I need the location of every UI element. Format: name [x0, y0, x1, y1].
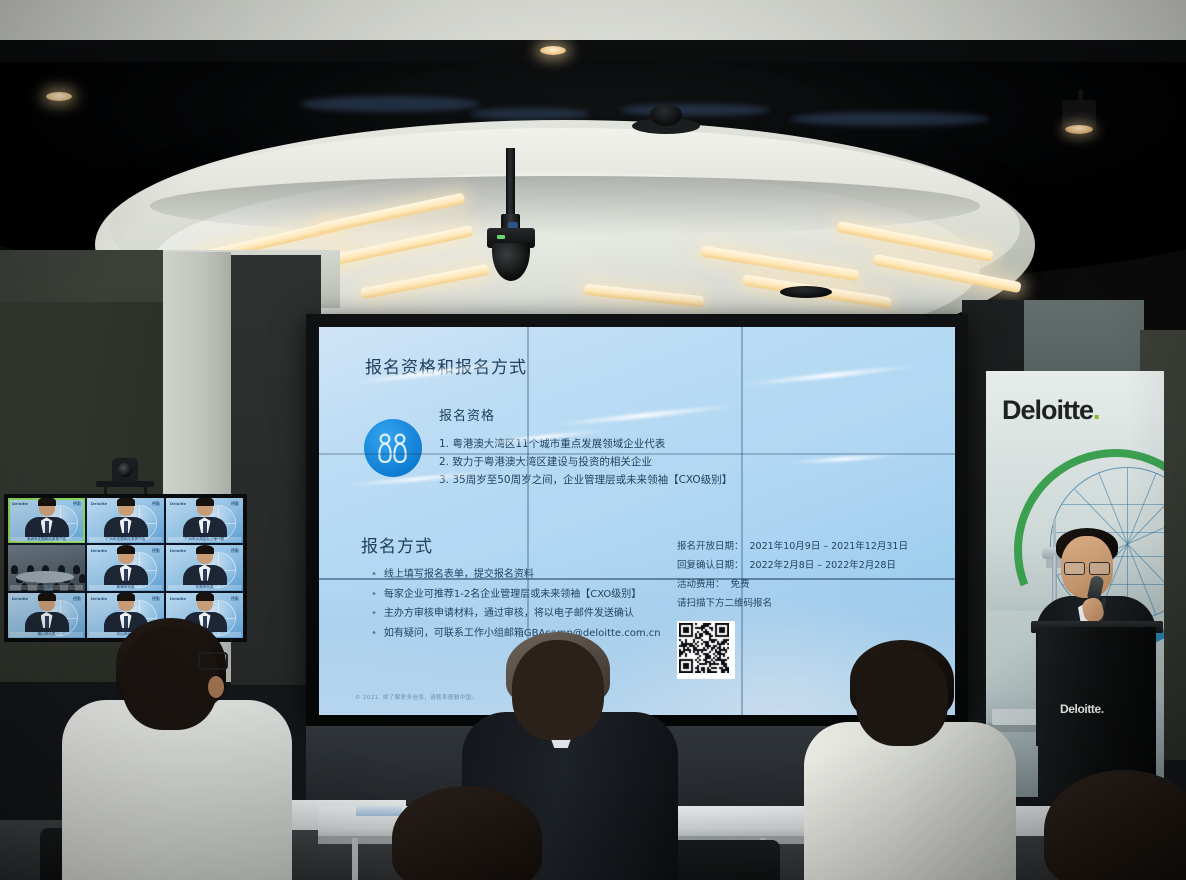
panel-seam: [319, 453, 955, 455]
info-value: 2022年2月8日 – 2022年2月28日: [750, 556, 896, 575]
participant-head: [197, 499, 213, 516]
participant-tie: [203, 521, 207, 533]
harbour-vessel: [992, 709, 1040, 725]
participant-hair: [38, 498, 56, 506]
slide-footer: © 2021. 欲了解更多信息，请联系德勤中国。: [355, 693, 477, 701]
info-label: 报名开放日期：: [677, 537, 744, 556]
participant-body: [104, 517, 148, 537]
participant-head: [197, 547, 213, 564]
ceiling-reflection: [790, 112, 990, 126]
participant-hair: [117, 545, 135, 553]
downlight-stem: [1078, 96, 1083, 108]
audience-ear: [208, 676, 224, 698]
participant-hair: [196, 545, 214, 553]
tile-deloitte-logo: Deloitte: [170, 501, 186, 506]
info-row: 报名开放日期： 2021年10月9日 – 2021年12月31日: [677, 537, 927, 556]
tile-brand-cn: 德勤: [152, 501, 160, 507]
tile-caption: 广州市大湾区办公室代表: [168, 537, 241, 542]
tile-caption: 会议现场: [10, 585, 83, 590]
participant-head: [118, 594, 134, 611]
tile-caption: 佛山市代表: [10, 632, 83, 637]
participant-figure: [183, 547, 227, 585]
video-tile[interactable]: Deloitte德勤东莞市代表: [166, 545, 243, 590]
participant-hair: [117, 593, 135, 601]
participant-tie: [124, 616, 128, 628]
deloitte-logo: Deloitte.: [1002, 395, 1100, 426]
participant-body: [104, 565, 148, 585]
info-label: 回复确认日期：: [677, 556, 744, 575]
participant-body: [183, 517, 227, 537]
how-to-register-list: •线上填写报名表单，提交报名资料 •每家企业可推荐1-2名企业管理层或未来领袖【…: [371, 565, 681, 643]
list-item: •线上填写报名表单，提交报名资料: [371, 565, 681, 585]
how-item-text: 每家企业可推荐1-2名企业管理层或未来领袖【CXO级别】: [384, 585, 641, 605]
ceiling-reflection: [300, 96, 480, 112]
podium-deloitte-logo: Deloitte.: [1060, 702, 1104, 716]
tile-deloitte-logo: Deloitte: [170, 548, 186, 553]
ceiling-reflection: [620, 104, 770, 116]
audience-head: [122, 626, 218, 730]
tile-brand-cn: 德勤: [152, 548, 160, 554]
how-item-text: 主办方审核申请材料，通过审核，将以电子邮件发送确认: [384, 604, 634, 624]
qr-caption: 请扫描下方二维码报名: [677, 594, 927, 613]
participant-head: [118, 547, 134, 564]
tile-deloitte-logo: Deloitte: [12, 501, 28, 506]
recessed-downlight: [46, 92, 72, 101]
participant-head: [39, 499, 55, 516]
participant-hair: [196, 593, 214, 601]
video-tile[interactable]: 会议现场: [8, 545, 85, 590]
qualification-heading: 报名资格: [439, 405, 495, 424]
participant-head: [197, 594, 213, 611]
tile-caption: 深圳市发展和改革委员会: [10, 537, 83, 542]
video-tile[interactable]: Deloitte德勤深圳市发展和改革委员会: [8, 498, 85, 543]
audience-head: [392, 786, 542, 880]
conference-room-photo: 报名资格和报名方式 报名资格 1. 粤港澳大湾区11个城市重点发展领域企业代表 …: [0, 0, 1186, 880]
info-row: 回复确认日期： 2022年2月8日 – 2022年2月28日: [677, 556, 927, 575]
two-people-icon: [364, 419, 422, 477]
ceiling-reflection: [470, 108, 590, 120]
panel-seam: [319, 578, 955, 580]
tile-brand-cn: 德勤: [231, 596, 239, 602]
bullet-icon: •: [371, 585, 377, 605]
participant-figure: [25, 594, 69, 632]
qualification-item: 2. 致力于粤港澳大湾区建设与投资的相关企业: [439, 453, 732, 471]
participant-tie: [124, 521, 128, 533]
chair: [660, 840, 780, 880]
tile-deloitte-logo: Deloitte: [91, 548, 107, 553]
projector-power-led-icon: [497, 235, 505, 239]
deloitte-logo-text: Deloitte: [1002, 395, 1093, 425]
participant-figure: [25, 499, 69, 537]
how-item-text: 如有疑问，可联系工作小组邮箱GBAcamp@deloitte.com.cn: [384, 624, 661, 644]
tile-brand-cn: 德勤: [73, 501, 81, 507]
participant-hair: [38, 593, 56, 601]
panel-seam: [741, 327, 743, 715]
participant-body: [25, 612, 69, 632]
tile-brand-cn: 德勤: [73, 596, 81, 602]
info-value: 2021年10月9日 – 2021年12月31日: [750, 537, 908, 556]
desk-document: [356, 806, 402, 816]
eyeglasses-icon: [198, 652, 228, 670]
how-to-register-heading: 报名方式: [361, 532, 433, 557]
podium-logo-dot: .: [1101, 702, 1104, 716]
room-attendee-silhouette: [79, 574, 85, 583]
podium-logo-text: Deloitte: [1060, 702, 1101, 716]
tile-caption: 珠海市代表: [89, 585, 162, 590]
participant-figure: [104, 547, 148, 585]
ceiling-speaker: [650, 104, 682, 126]
audience-head: [856, 648, 948, 746]
room-attendee-silhouette: [11, 565, 18, 574]
bullet-icon: •: [371, 604, 377, 624]
recessed-downlight: [540, 46, 566, 55]
room-attendee-silhouette: [73, 565, 80, 574]
slide-title: 报名资格和报名方式: [365, 353, 527, 378]
registration-qr-code[interactable]: [677, 621, 735, 679]
camera-lens-icon: [118, 463, 132, 477]
participant-tie: [45, 616, 49, 628]
registration-info-block: 报名开放日期： 2021年10月9日 – 2021年12月31日 回复确认日期：…: [677, 537, 927, 613]
participant-head: [39, 594, 55, 611]
participant-tie: [45, 521, 49, 533]
table-leg: [352, 838, 358, 880]
participant-body: [183, 565, 227, 585]
audience-head: [512, 640, 604, 740]
video-tile[interactable]: Deloitte德勤广州市大湾区办公室代表: [166, 498, 243, 543]
ceiling-speaker: [780, 286, 832, 298]
tile-caption: 广州市发展和改革委员会: [89, 537, 162, 542]
participant-hair: [196, 498, 214, 506]
tile-brand-cn: 德勤: [231, 548, 239, 554]
ceiling-projector-pole: [506, 148, 515, 222]
video-tile[interactable]: Deloitte德勤广州市发展和改革委员会: [87, 498, 164, 543]
video-tile[interactable]: Deloitte德勤珠海市代表: [87, 545, 164, 590]
tile-brand-cn: 德勤: [152, 596, 160, 602]
deloitte-logo-dot: .: [1093, 395, 1100, 425]
tile-caption: 东莞市代表: [168, 585, 241, 590]
participant-video-grid[interactable]: Deloitte德勤深圳市发展和改革委员会Deloitte德勤广州市发展和改革委…: [8, 498, 243, 638]
participant-figure: [104, 499, 148, 537]
bullet-icon: •: [371, 624, 377, 644]
tile-deloitte-logo: Deloitte: [91, 596, 107, 601]
how-item-text: 线上填写报名表单，提交报名资料: [384, 565, 534, 585]
list-item: •每家企业可推荐1-2名企业管理层或未来领袖【CXO级别】: [371, 585, 681, 605]
tile-deloitte-logo: Deloitte: [91, 501, 107, 506]
tile-deloitte-logo: Deloitte: [170, 596, 186, 601]
video-tile[interactable]: Deloitte德勤佛山市代表: [8, 593, 85, 638]
participant-tie: [124, 569, 128, 581]
tile-deloitte-logo: Deloitte: [12, 596, 28, 601]
participant-hair: [117, 498, 135, 506]
bullet-icon: •: [371, 565, 377, 585]
participant-tie: [203, 569, 207, 581]
eyeglasses-icon: [1064, 562, 1110, 573]
participant-body: [25, 517, 69, 537]
participant-head: [118, 499, 134, 516]
tile-brand-cn: 德勤: [231, 501, 239, 507]
list-item: •主办方审核申请材料，通过审核，将以电子邮件发送确认: [371, 604, 681, 624]
participant-figure: [183, 499, 227, 537]
